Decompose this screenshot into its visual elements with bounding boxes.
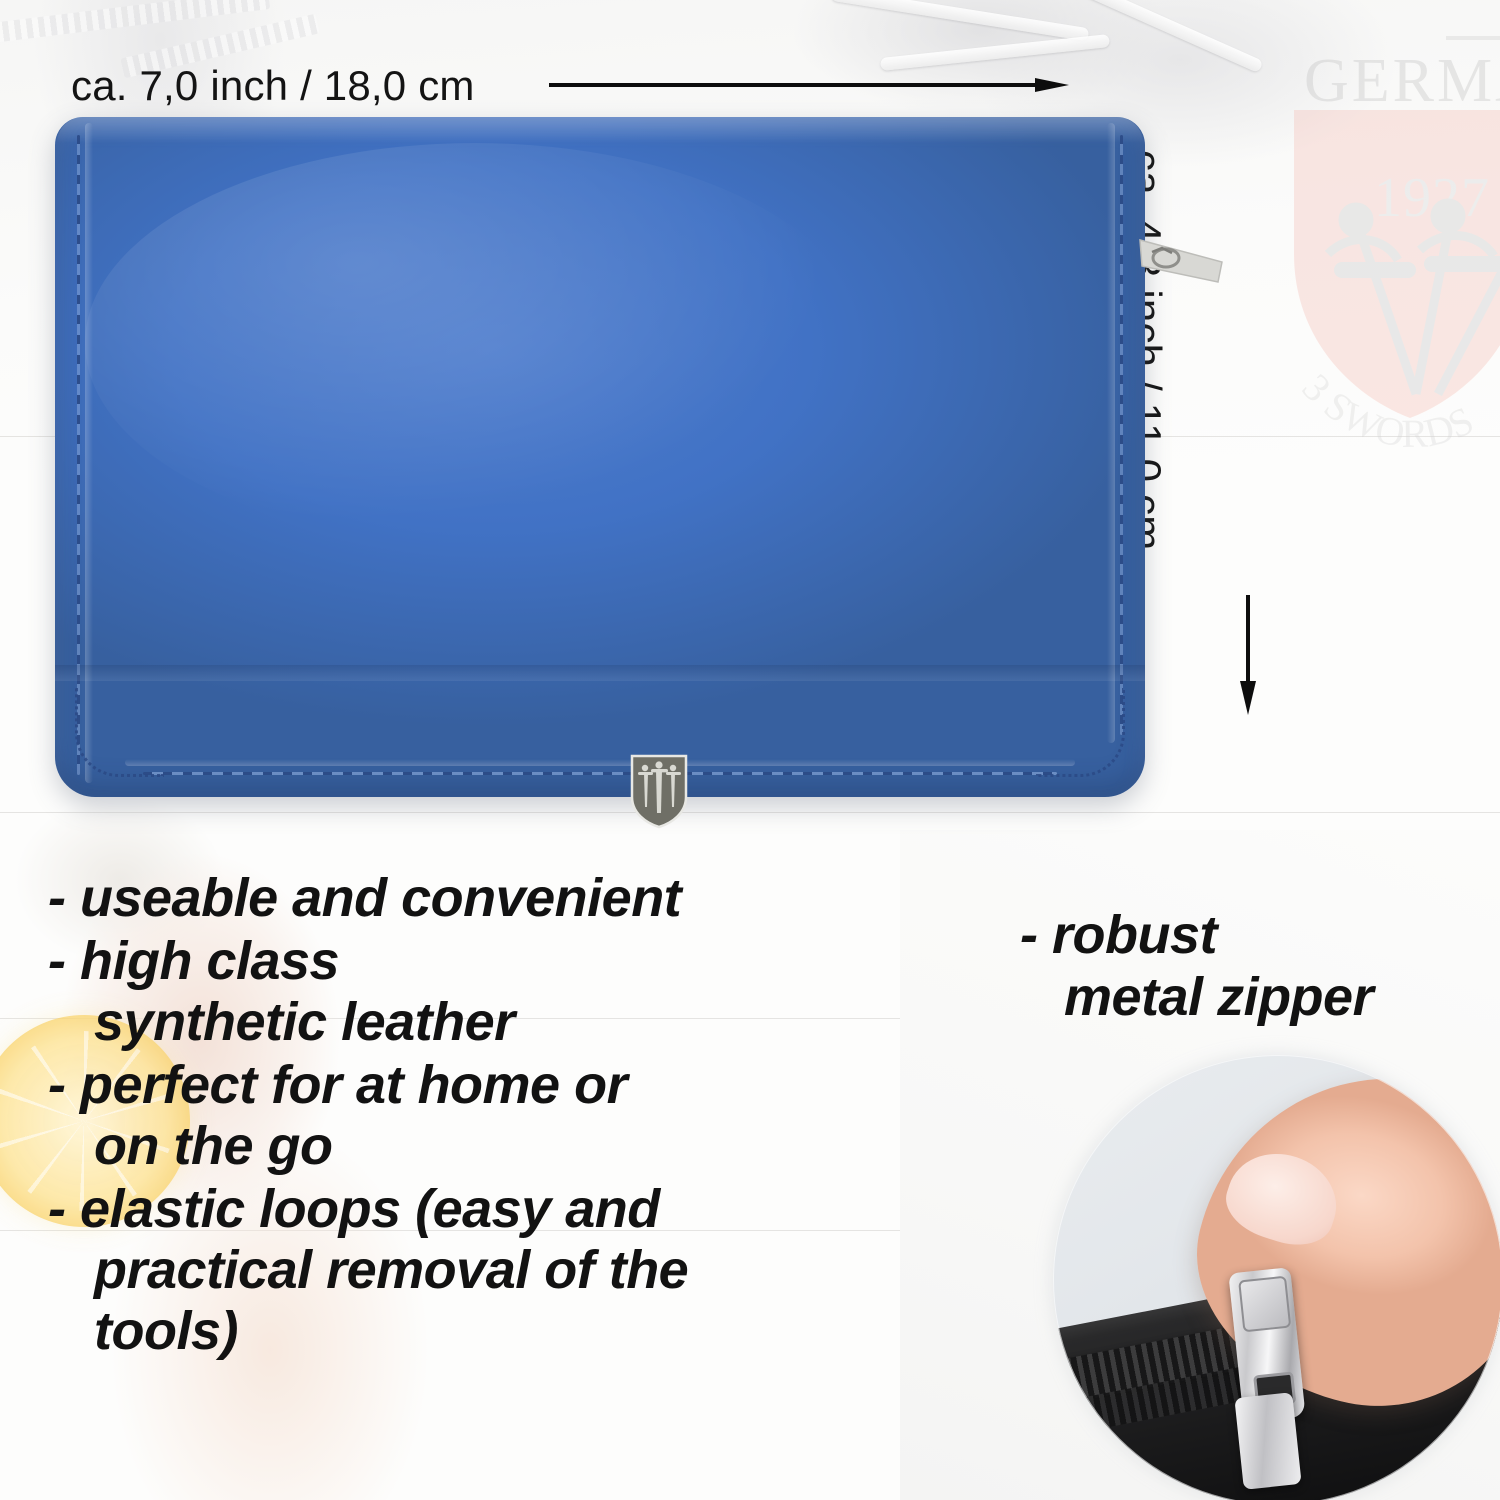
left-seam: [85, 123, 93, 783]
left-stitching: [77, 135, 80, 775]
bottom-right-corner-stitching: [1036, 688, 1125, 777]
product-infographic: GERMA 1927 3 SWORDS ca. 7,0 inch /: [0, 0, 1500, 1500]
watermark-rule: [1446, 36, 1500, 40]
bullet-dash: -: [1020, 905, 1037, 965]
zipper-closeup-photo: [1053, 1055, 1500, 1500]
bullet-dash: -: [48, 1179, 65, 1239]
watermark-swords-text: 3 SWORDS: [1286, 364, 1500, 474]
right-stitching: [1120, 135, 1123, 735]
feature-zipper: - robust metal zipper: [1020, 905, 1490, 1028]
shoelace: [880, 34, 1110, 71]
bullet-dash: -: [48, 1055, 65, 1115]
brand-watermark: GERMA 1927 3 SWORDS: [1258, 8, 1500, 478]
feature-text-cont: metal zipper: [1020, 967, 1490, 1029]
list-item: - perfect for at home or on the go: [48, 1055, 928, 1177]
feature-text-cont: synthetic leather: [48, 992, 928, 1053]
list-item: - high class synthetic leather: [48, 931, 928, 1053]
right-seam: [1107, 123, 1115, 743]
three-swords-shield-emblem-icon: [628, 753, 690, 829]
feature-text-cont: on the go: [48, 1116, 928, 1177]
shoelace: [831, 0, 1090, 41]
zipper-pull-tab-icon: [1138, 222, 1226, 302]
svg-text:3 SWORDS: 3 SWORDS: [1294, 365, 1481, 456]
bottom-left-corner-stitching: [75, 688, 164, 777]
zipper-teeth-decor: [0, 0, 270, 43]
width-dimension-label: ca. 7,0 inch / 18,0 cm: [71, 62, 475, 110]
watermark-brand-text: GERMA: [1304, 46, 1500, 117]
list-item: - useable and convenient: [48, 868, 928, 929]
feature-text: perfect for at home or: [80, 1055, 627, 1115]
feature-text: useable and convenient: [80, 868, 681, 928]
bottom-seam: [125, 759, 1075, 766]
width-arrow-icon: [549, 78, 1069, 92]
list-item: - elastic loops (easy and practical remo…: [48, 1179, 928, 1362]
feature-text: robust: [1052, 905, 1217, 965]
feature-text-cont: tools): [48, 1301, 928, 1362]
shoelace: [1066, 0, 1263, 73]
svg-text:1927: 1927: [1374, 167, 1490, 229]
feature-text-cont: practical removal of the: [48, 1240, 928, 1301]
bullet-dash: -: [48, 931, 65, 991]
height-arrow-icon: [1240, 595, 1256, 715]
feature-text: elastic loops (easy and: [80, 1179, 660, 1239]
wood-plank-line: [0, 812, 1500, 813]
feature-text: high class: [80, 931, 339, 991]
flap-crease: [55, 665, 1145, 681]
bullet-dash: -: [48, 868, 65, 928]
blue-leather-case: [55, 117, 1145, 797]
zipper-pull: [1234, 1392, 1301, 1490]
bottom-stitching: [143, 772, 1057, 775]
watermark-shield-icon: 1927: [1288, 104, 1500, 424]
feature-list: - useable and convenient - high class sy…: [48, 868, 928, 1364]
leather-sheen: [85, 143, 865, 543]
